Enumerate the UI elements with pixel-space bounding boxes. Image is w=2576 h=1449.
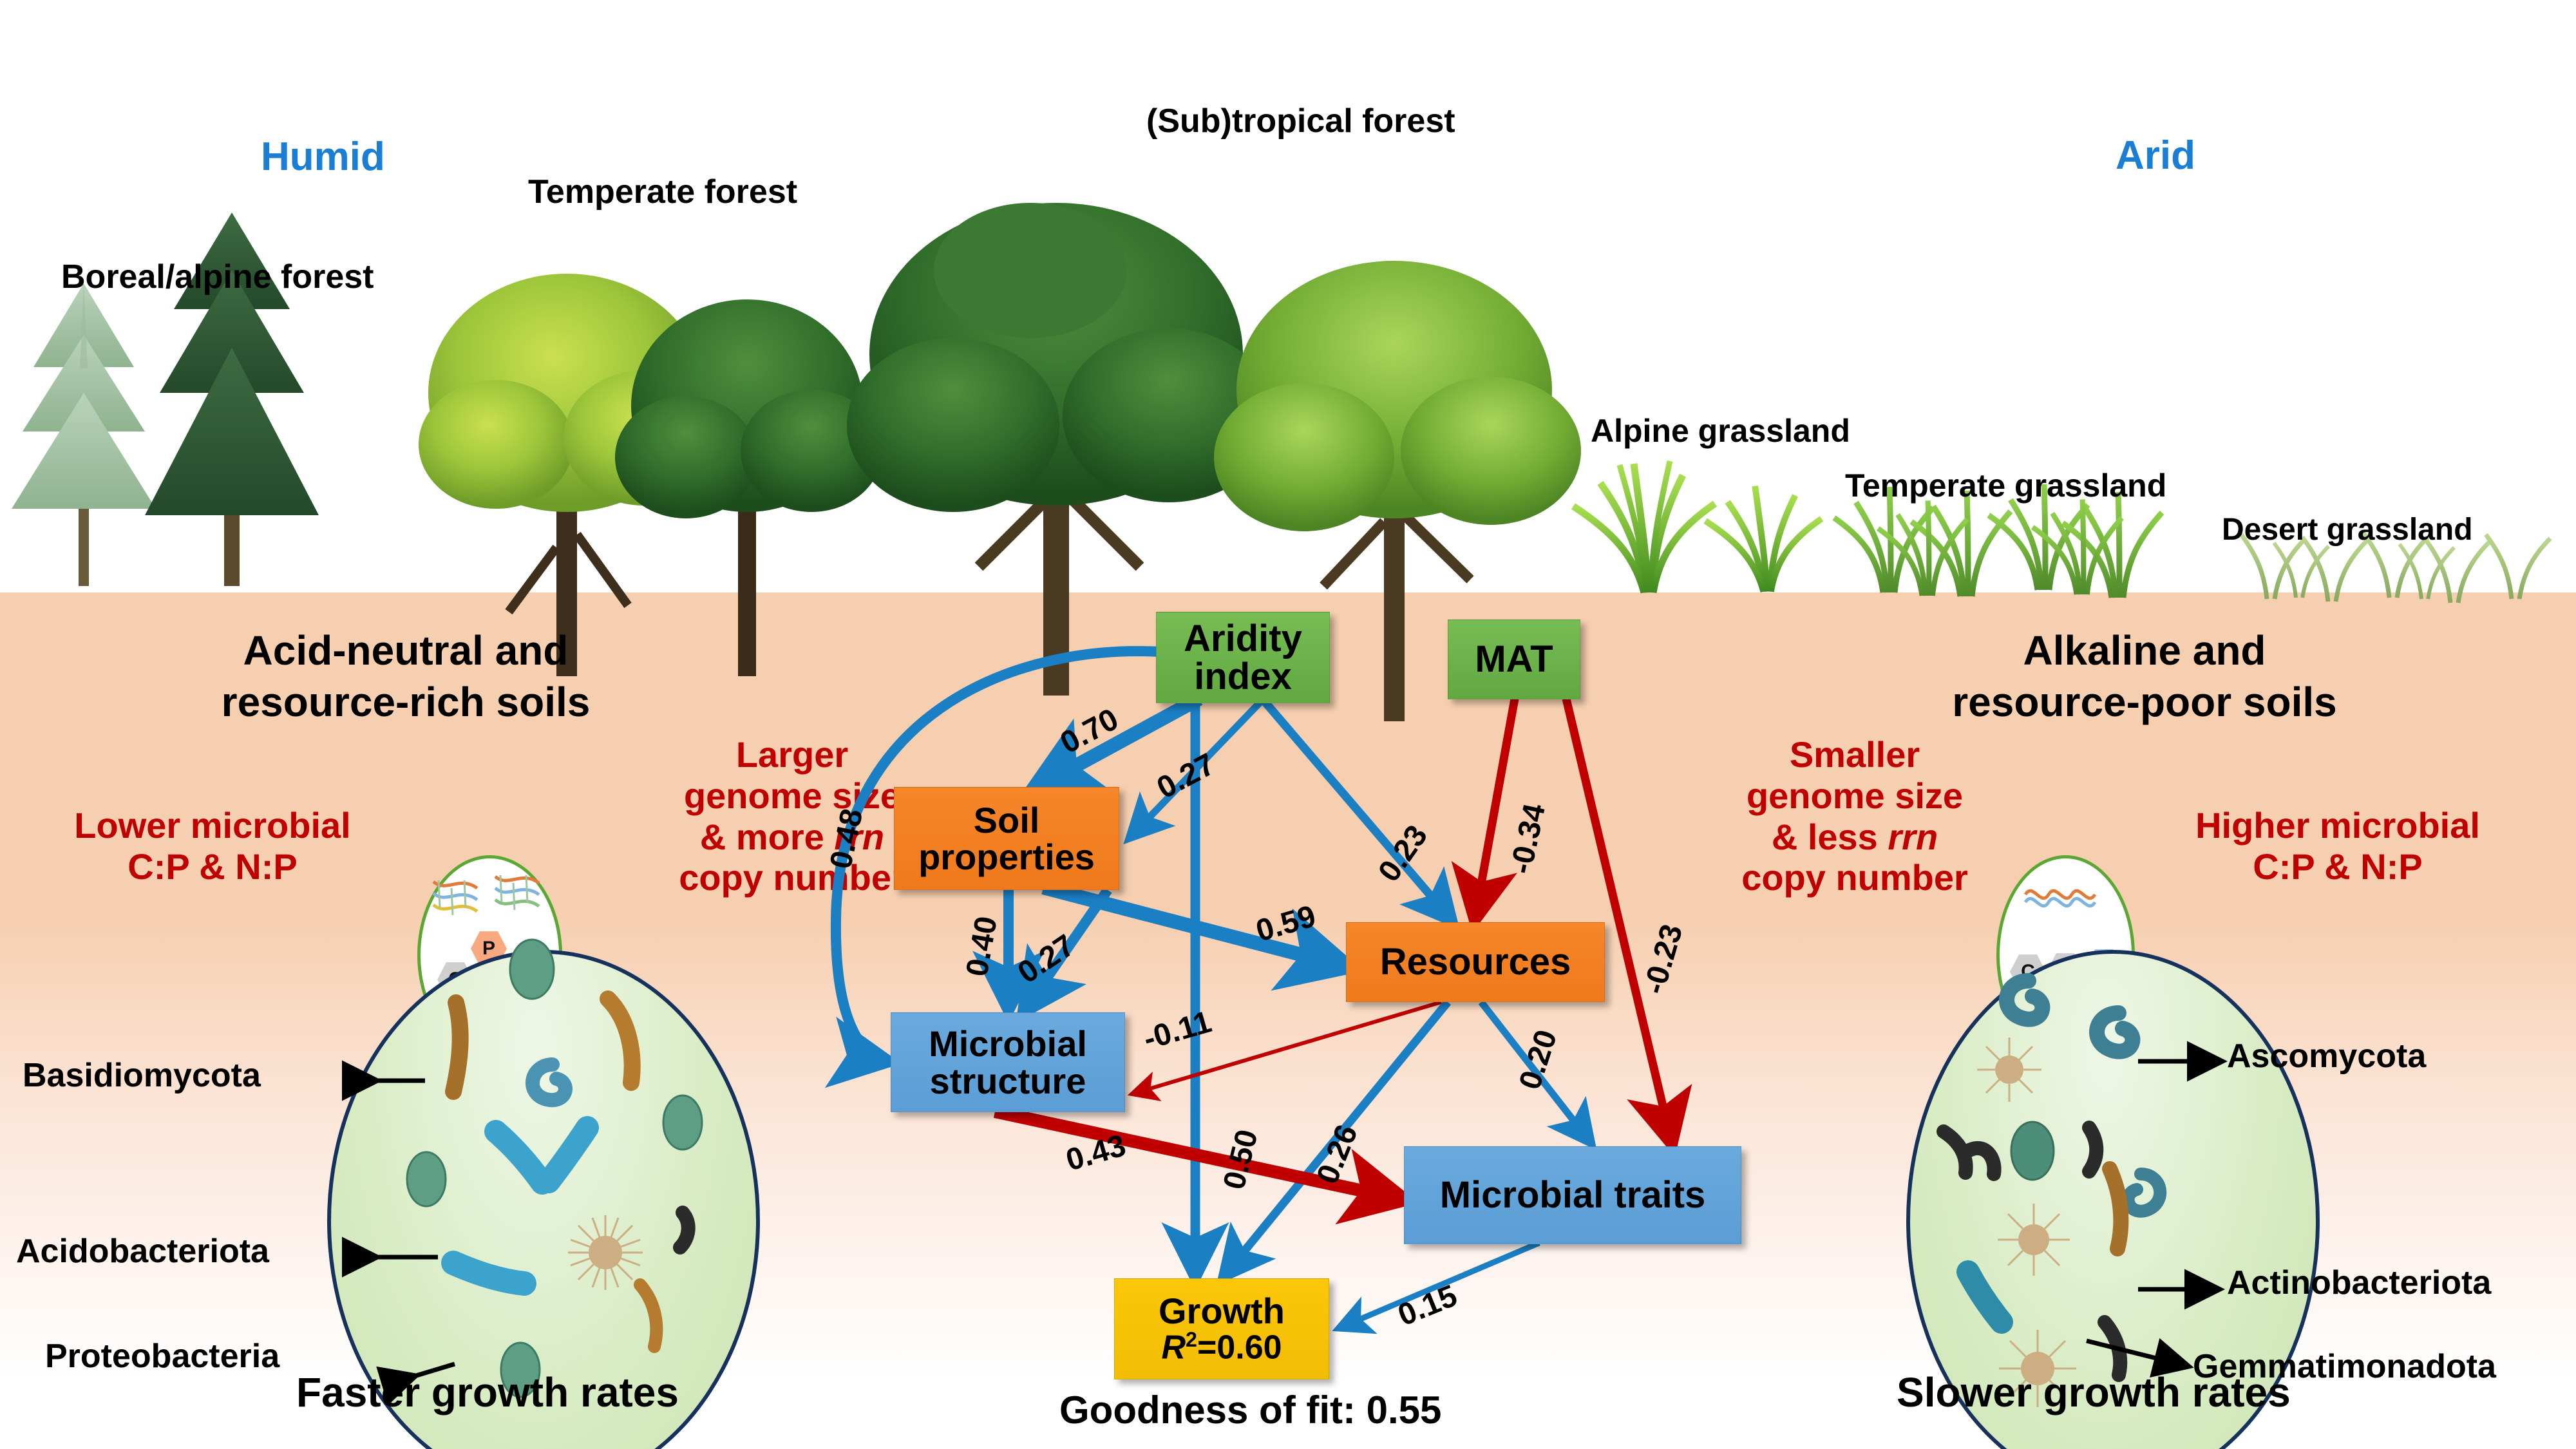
sem-node-growth-r2-sup: 2: [1186, 1328, 1197, 1351]
sem-node-soilprop-label-2: properties: [918, 838, 1095, 875]
sem-node-aridity-index[interactable]: Aridity index: [1156, 612, 1330, 703]
sem-path-arrows: [0, 0, 2576, 1449]
sem-goodness-of-fit: Goodness of fit: 0.55: [1059, 1388, 1441, 1432]
sem-node-microbial-structure[interactable]: Microbial structure: [891, 1012, 1125, 1112]
figure-canvas: Humid Arid Boreal/alpine forest Temperat…: [0, 0, 2576, 1449]
sem-node-structure-label-1: Microbial: [929, 1025, 1087, 1062]
sem-node-structure-label-2: structure: [930, 1063, 1086, 1099]
sem-node-mat-label: MAT: [1475, 640, 1553, 678]
sem-node-traits-label: Microbial traits: [1440, 1176, 1706, 1214]
sem-node-growth[interactable]: Growth R2=0.60: [1114, 1278, 1329, 1379]
sem-node-aridity-label-2: index: [1194, 658, 1292, 696]
sem-node-growth-r2-value: =0.60: [1197, 1329, 1282, 1367]
sem-node-microbial-traits[interactable]: Microbial traits: [1404, 1146, 1741, 1244]
sem-node-resources-label: Resources: [1380, 943, 1571, 981]
sem-node-soil-properties[interactable]: Soil properties: [894, 787, 1119, 890]
sem-node-mat[interactable]: MAT: [1448, 620, 1580, 699]
sem-node-resources[interactable]: Resources: [1346, 922, 1605, 1002]
sem-node-aridity-label-1: Aridity: [1184, 620, 1302, 658]
sem-node-growth-r2-prefix: R: [1161, 1329, 1186, 1367]
sem-node-growth-r2: R2=0.60: [1161, 1329, 1282, 1365]
sem-node-growth-label: Growth: [1159, 1293, 1285, 1329]
sem-node-soilprop-label-1: Soil: [974, 802, 1040, 838]
